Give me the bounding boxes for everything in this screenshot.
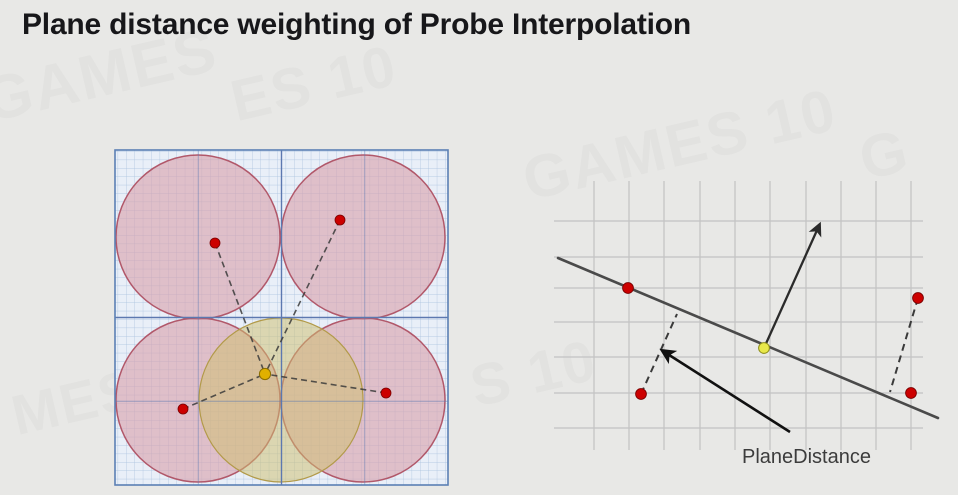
probe-dot-bottom-left: [178, 404, 188, 414]
sample-point: [259, 368, 270, 379]
sample-point-on-plane: [759, 343, 770, 354]
probe-grid-diagram: [110, 145, 455, 490]
probe-dot-below-left: [636, 389, 647, 400]
grid-lines: [554, 181, 923, 450]
plane-line: [558, 258, 938, 418]
probe-grid-svg: [110, 145, 455, 490]
plane-distance-line-right: [890, 298, 918, 392]
probe-circle-top-right: [281, 155, 445, 319]
sample-point: [259, 368, 270, 379]
probe-dot-below-right: [906, 388, 917, 399]
probe-dots-group: [623, 283, 924, 400]
plane-distance-line-left: [641, 314, 677, 394]
probe-dot-top-left: [210, 238, 220, 248]
probe-dot-top-right: [335, 215, 345, 225]
sample-point-on-plane: [759, 343, 770, 354]
probe-dot-above-right: [913, 293, 924, 304]
probe-dot-on-plane: [623, 283, 634, 294]
slide-title: Plane distance weighting of Probe Interp…: [22, 8, 691, 42]
watermark-text: ES 10: [225, 32, 404, 135]
plane-distance-diagram: PlaneDistance: [548, 170, 948, 490]
plane-distance-label: PlaneDistance: [742, 446, 871, 468]
probe-dot-bottom-right: [381, 388, 391, 398]
slide-root: GAMES ES 10 GAMES 10 MES 10 S 10 G Plane…: [0, 0, 958, 495]
plane-distance-svg: PlaneDistance: [548, 170, 958, 495]
